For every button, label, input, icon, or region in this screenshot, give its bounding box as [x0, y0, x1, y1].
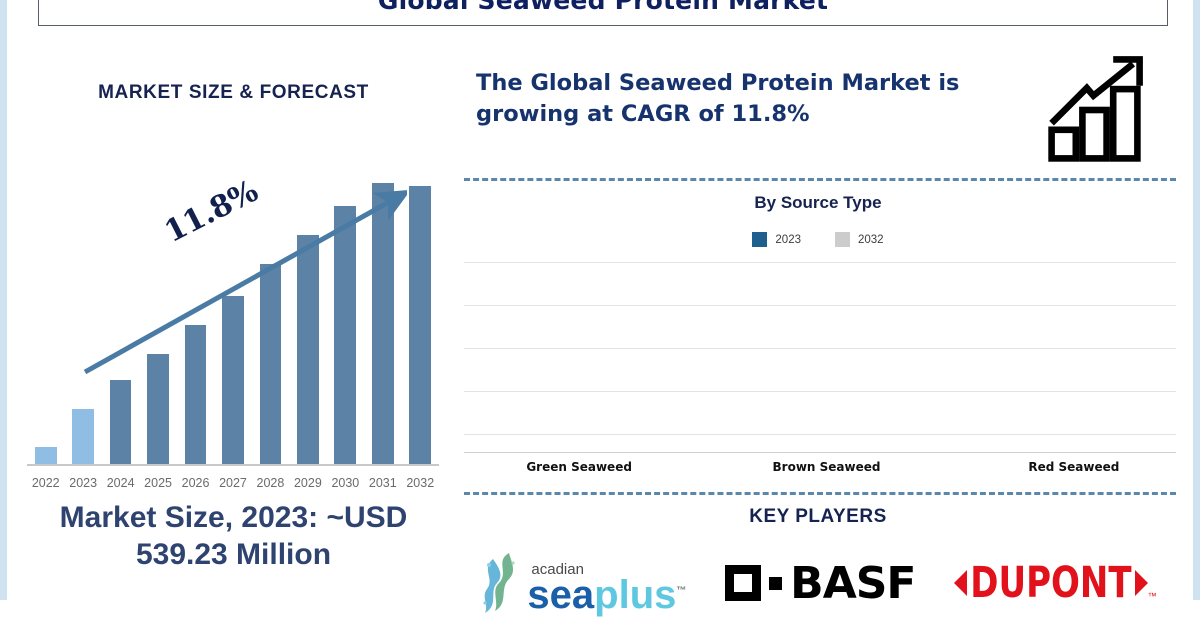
logo-basf: BASF	[725, 540, 915, 626]
bar-col-2029	[289, 174, 326, 464]
year-label: 2032	[402, 476, 439, 490]
legend-swatch-2023	[752, 232, 767, 247]
bar-2029	[297, 235, 319, 464]
year-label: 2022	[27, 476, 64, 490]
insights-panel: The Global Seaweed Protein Market is gro…	[460, 30, 1193, 600]
market-size-value: Market Size, 2023: ~USD 539.23 Million	[7, 500, 460, 573]
market-size-heading: MARKET SIZE & FORECAST	[7, 82, 460, 104]
legend-swatch-2032	[835, 232, 850, 247]
bar-2027	[222, 296, 244, 464]
key-players-logos: acadian seaplus™ BASF DUPONT ™	[460, 540, 1176, 630]
cagr-statement-line-1: The Global Seaweed Protein Market is	[476, 68, 1036, 99]
legend-item-2023: 2023	[752, 232, 801, 247]
bar-2023	[72, 409, 94, 464]
seaplus-tm: ™	[676, 586, 686, 597]
year-label: 2031	[364, 476, 401, 490]
key-players-title: KEY PLAYERS	[460, 506, 1176, 528]
basf-square-icon	[725, 565, 761, 601]
x-axis-line	[27, 464, 439, 466]
year-label: 2025	[139, 476, 176, 490]
seaplus-word-sea: sea	[527, 573, 594, 617]
bar-2032	[409, 186, 431, 464]
cagr-statement-line-2: growing at CAGR of 11.8%	[476, 99, 1036, 130]
grouped-bars	[472, 258, 1168, 453]
cagr-statement: The Global Seaweed Protein Market is gro…	[476, 68, 1036, 130]
seaplus-word-plus: plus	[594, 573, 676, 617]
bar-col-2030	[327, 174, 364, 464]
by-source-type-chart	[464, 258, 1176, 453]
year-label: 2027	[214, 476, 251, 490]
dupont-wordmark: DUPONT	[970, 558, 1131, 608]
source-type-chart-title: By Source Type	[460, 193, 1176, 213]
bar-col-2022	[27, 174, 64, 464]
year-label: 2026	[177, 476, 214, 490]
bar-col-2032	[402, 174, 439, 464]
dupont-left-arrow-icon	[954, 570, 967, 596]
legend-label-2023: 2023	[775, 234, 801, 246]
divider-top	[464, 178, 1176, 181]
year-label: 2024	[102, 476, 139, 490]
seaplus-main-word: seaplus™	[527, 575, 686, 615]
logo-acadian-seaplus: acadian seaplus™	[479, 540, 686, 626]
category-axis-labels: Green Seaweed Brown Seaweed Red Seaweed	[468, 460, 1185, 474]
year-label: 2028	[252, 476, 289, 490]
left-edge-strip	[0, 0, 7, 600]
bar-2028	[260, 264, 282, 464]
basf-dot-icon	[769, 577, 782, 590]
category-label-brown: Brown Seaweed	[715, 460, 937, 474]
year-label: 2023	[64, 476, 101, 490]
bar-col-2028	[252, 174, 289, 464]
year-label: 2030	[327, 476, 364, 490]
bar-col-2031	[364, 174, 401, 464]
legend-item-2032: 2032	[835, 232, 884, 247]
category-label-green: Green Seaweed	[468, 460, 690, 474]
logo-dupont: DUPONT ™	[954, 540, 1156, 626]
bar-col-2024	[102, 174, 139, 464]
bar-2030	[334, 206, 356, 464]
year-label: 2029	[289, 476, 326, 490]
divider-bottom	[464, 492, 1176, 495]
legend-label-2032: 2032	[858, 234, 884, 246]
seaplus-wave-icon	[479, 551, 525, 615]
bar-2026	[185, 325, 207, 464]
market-size-line-1: Market Size, 2023: ~USD	[7, 500, 460, 537]
right-edge-strip	[1193, 0, 1200, 600]
bar-col-2023	[64, 174, 101, 464]
year-axis-labels: 2022 2023 2024 2025 2026 2027 2028 2029 …	[27, 476, 439, 490]
bar-2025	[147, 354, 169, 464]
market-size-line-2: 539.23 Million	[7, 537, 460, 574]
dupont-right-arrow-icon	[1135, 570, 1148, 596]
bar-2022	[35, 447, 57, 464]
bar-2031	[372, 183, 394, 464]
market-size-panel: MARKET SIZE & FORECAST 2022 2023 2024 20…	[7, 30, 460, 600]
chart-legend: 2023 2032	[460, 232, 1176, 247]
category-label-red: Red Seaweed	[963, 460, 1185, 474]
basf-wordmark: BASF	[790, 558, 915, 609]
bar-2024	[110, 380, 132, 464]
growth-chart-arrow-icon	[1045, 55, 1155, 165]
title-bar: Global Seaweed Protein Market	[38, 0, 1168, 26]
page-title: Global Seaweed Protein Market	[378, 0, 828, 15]
